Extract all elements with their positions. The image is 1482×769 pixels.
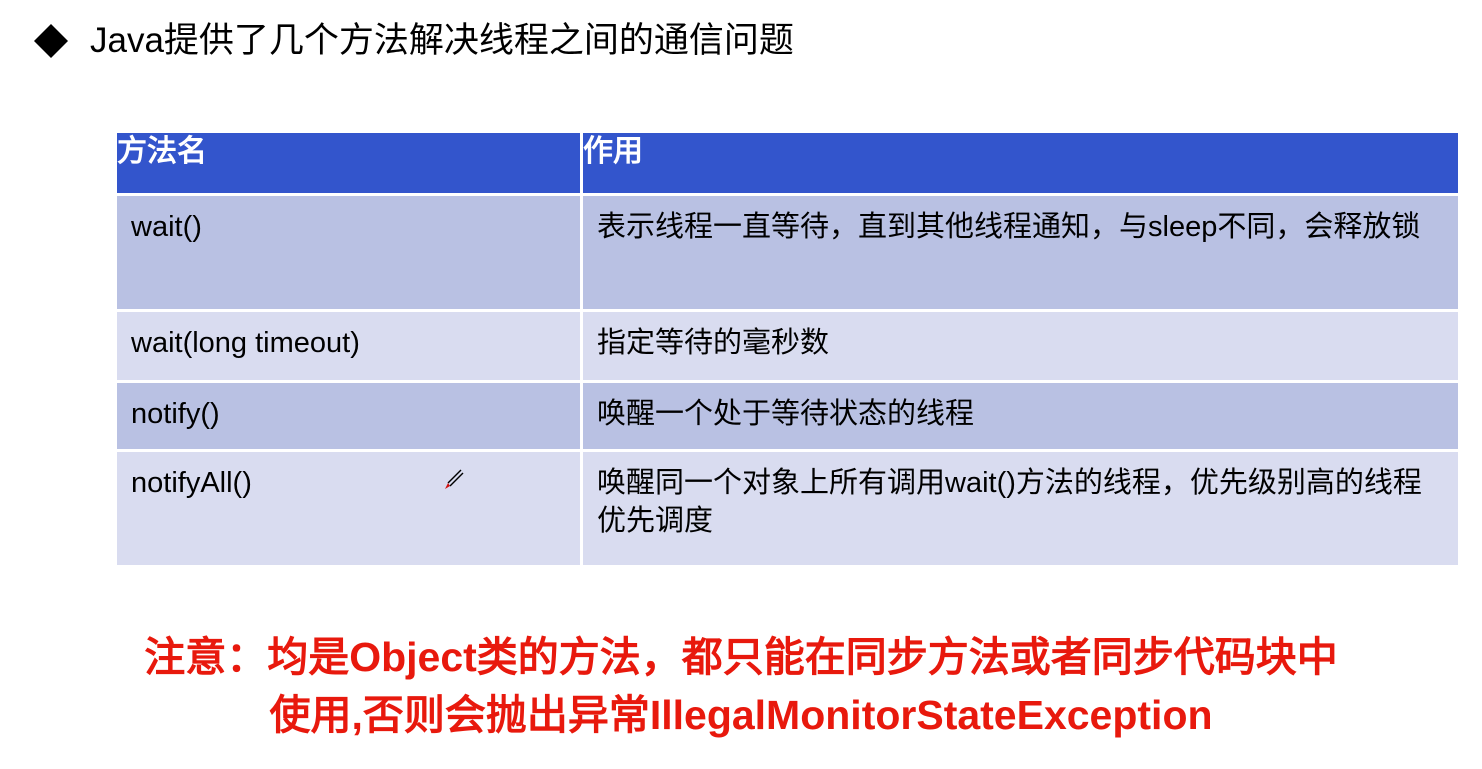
- column-header-description: 作用: [583, 133, 1458, 193]
- warning-note-line-2: 使用,否则会抛出异常IllegalMonitorStateException: [0, 686, 1482, 744]
- cell-method-name: notifyAll(): [117, 452, 580, 516]
- cell-method-description: 表示线程一直等待，直到其他线程通知，与sleep不同，会释放锁: [583, 196, 1458, 260]
- table-row: wait() 表示线程一直等待，直到其他线程通知，与sleep不同，会释放锁: [117, 196, 1458, 309]
- cell-method-description: 唤醒一个处于等待状态的线程: [583, 383, 1458, 447]
- cell-method-name: wait(): [117, 196, 580, 260]
- table-row: wait(long timeout) 指定等待的毫秒数: [117, 312, 1458, 380]
- table-row: notifyAll() 唤醒同一个对象上所有调用wait()方法的线程，优先级别…: [117, 452, 1458, 565]
- column-header-method-name: 方法名: [117, 133, 580, 193]
- cell-method-description: 指定等待的毫秒数: [583, 312, 1458, 376]
- cell-method-name: notify(): [117, 383, 580, 447]
- table-header-row: 方法名 作用: [117, 133, 1458, 193]
- warning-note-line-1: 注意：均是Object类的方法，都只能在同步方法或者同步代码块中: [0, 628, 1482, 686]
- table-row: notify() 唤醒一个处于等待状态的线程: [117, 383, 1458, 449]
- filled-diamond-bullet-icon: [34, 7, 68, 41]
- warning-note: 注意：均是Object类的方法，都只能在同步方法或者同步代码块中 使用,否则会抛…: [0, 628, 1482, 744]
- slide-heading: Java提供了几个方法解决线程之间的通信问题: [34, 22, 794, 61]
- cell-method-name: wait(long timeout): [117, 312, 580, 376]
- slide-heading-text: Java提供了几个方法解决线程之间的通信问题: [90, 22, 794, 61]
- thread-methods-table: 方法名 作用 wait() 表示线程一直等待，直到其他线程通知，与sleep不同…: [114, 130, 1461, 568]
- cell-method-description: 唤醒同一个对象上所有调用wait()方法的线程，优先级别高的线程优先调度: [583, 452, 1458, 555]
